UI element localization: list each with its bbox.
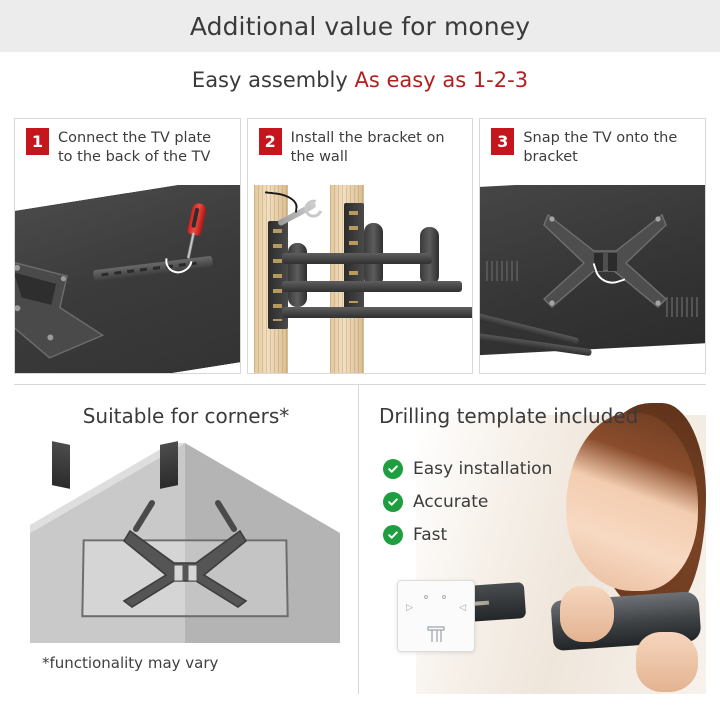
step-card-2: 2 Install the bracket on the wall xyxy=(247,118,474,374)
woman-hand-front xyxy=(560,586,614,642)
step-3-figure xyxy=(480,185,705,373)
drilling-template-panel: ▷ ◁ Drilling template included xyxy=(359,385,706,694)
tv-vent-left xyxy=(486,261,520,281)
step-1-header: 1 Connect the TV plate to the back of th… xyxy=(15,119,240,185)
assembly-steps-row: 1 Connect the TV plate to the back of th… xyxy=(14,118,706,374)
feature-item: Fast xyxy=(383,525,552,545)
arm-bar-bottom xyxy=(282,307,473,318)
vesa-plate-svg xyxy=(15,230,159,372)
corner-footnote: *functionality may vary xyxy=(42,654,218,672)
template-arrow-left-icon: ▷ xyxy=(406,603,413,613)
corner-panel-title: Suitable for corners* xyxy=(14,404,358,428)
step-3-text: Snap the TV onto the bracket xyxy=(523,128,695,168)
step-1-figure xyxy=(15,185,240,373)
subtitle-lead: Easy assembly xyxy=(192,68,348,92)
step-1-badge: 1 xyxy=(26,128,49,155)
check-icon xyxy=(383,459,403,479)
step-card-3: 3 Snap the TV onto the bracket xyxy=(479,118,706,374)
drilling-panel-title: Drilling template included xyxy=(359,404,706,428)
bottom-panels-row: Suitable for corners* xyxy=(14,384,706,694)
arm-bar-middle xyxy=(282,281,462,292)
vesa-plate-shape xyxy=(15,230,159,372)
screwdriver-shaft xyxy=(187,232,195,258)
check-icon xyxy=(383,525,403,545)
step-1-text: Connect the TV plate to the back of the … xyxy=(58,128,230,168)
page-title: Additional value for money xyxy=(190,12,530,41)
header-band: Additional value for money xyxy=(0,0,720,52)
template-hole-right xyxy=(442,595,446,599)
feature-item: Accurate xyxy=(383,492,552,512)
step-2-figure xyxy=(248,185,473,373)
step-3-badge: 3 xyxy=(491,128,514,155)
corner-bracket-svg xyxy=(100,489,270,609)
corner-wall-plate-left xyxy=(52,441,70,489)
feature-label: Fast xyxy=(413,525,447,545)
woman-head xyxy=(566,413,698,591)
feature-list: Easy installation Accurate Fast xyxy=(383,459,552,545)
corner-wall-plate-right xyxy=(160,441,178,489)
tv-vent-right xyxy=(666,297,700,317)
woman-hand-grip xyxy=(636,632,698,692)
template-screw-icon xyxy=(426,625,448,645)
step-2-text: Install the bracket on the wall xyxy=(291,128,463,168)
check-icon xyxy=(383,492,403,512)
corner-bracket-shape xyxy=(100,489,270,609)
template-arrow-right-icon: ◁ xyxy=(459,603,466,613)
infographic-page: Additional value for money Easy assembly… xyxy=(0,0,720,705)
corner-panel: Suitable for corners* xyxy=(14,385,359,694)
feature-label: Easy installation xyxy=(413,459,552,479)
step-card-1: 1 Connect the TV plate to the back of th… xyxy=(14,118,241,374)
step-2-badge: 2 xyxy=(259,128,282,155)
arm-bar-top xyxy=(282,253,432,264)
feature-label: Accurate xyxy=(413,492,488,512)
drilling-template-card: ▷ ◁ xyxy=(397,580,475,652)
subtitle-accent: As easy as 1-2-3 xyxy=(355,68,529,92)
feature-item: Easy installation xyxy=(383,459,552,479)
step-2-header: 2 Install the bracket on the wall xyxy=(248,119,473,185)
corner-mount-illustration xyxy=(30,443,340,643)
subtitle: Easy assembly As easy as 1-2-3 xyxy=(0,68,720,92)
step-3-header: 3 Snap the TV onto the bracket xyxy=(480,119,705,185)
template-hole-left xyxy=(424,595,428,599)
